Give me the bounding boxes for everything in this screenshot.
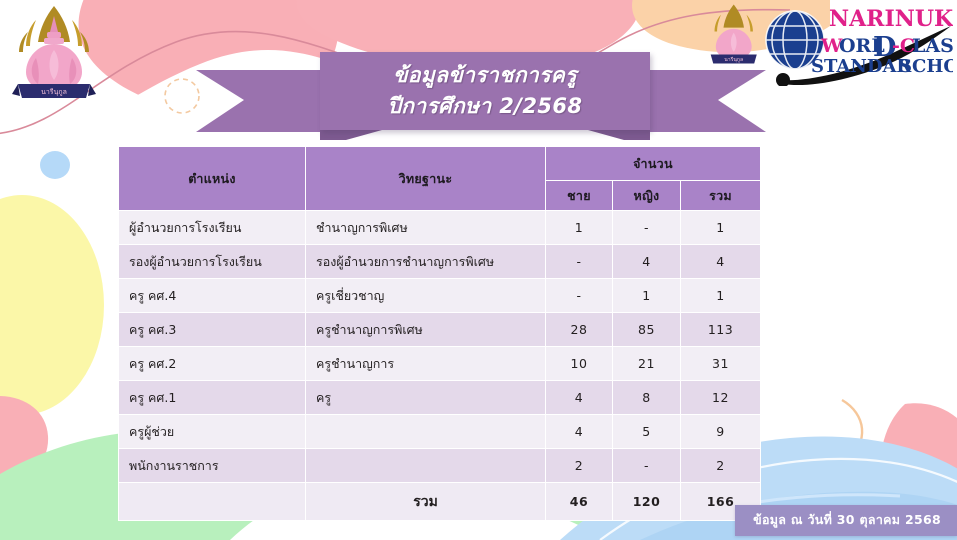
svg-text:STANDAR: STANDAR: [811, 56, 912, 77]
header-position: ตำแหน่ง: [119, 147, 306, 211]
table-row: ผู้อำนวยการโรงเรียน ชำนาญการพิเศษ 1 - 1: [119, 211, 761, 245]
cell-male: 1: [546, 211, 613, 245]
cell-male: 28: [546, 313, 613, 347]
cell-total: 12: [681, 381, 761, 415]
ribbon-fold-right: [588, 130, 650, 140]
header-academic-standing: วิทยฐานะ: [306, 147, 546, 211]
cell-male: -: [546, 245, 613, 279]
logo-crest-icon: นารีนุกูล: [711, 5, 757, 64]
cell-position: ครู คศ.2: [119, 347, 306, 381]
svg-text:LASS: LASS: [912, 35, 953, 57]
cell-position: พนักงานราชการ: [119, 449, 306, 483]
cell-standing: ชำนาญการพิเศษ: [306, 211, 546, 245]
royal-crest-emblem: นารีนุกูล: [6, 2, 102, 106]
table-row: ครู คศ.2 ครูชำนาญการ 10 21 31: [119, 347, 761, 381]
header-male: ชาย: [546, 181, 613, 211]
dashed-circle-right: [813, 458, 855, 500]
cell-female: 8: [613, 381, 681, 415]
cell-total: 9: [681, 415, 761, 449]
cell-total: 2: [681, 449, 761, 483]
table-row: ครู คศ.4 ครูเชี่ยวชาญ - 1 1: [119, 279, 761, 313]
header-total: รวม: [681, 181, 761, 211]
logo-title-text: NARINUKUN: [829, 6, 953, 32]
cell-total: 1: [681, 279, 761, 313]
table-body: ผู้อำนวยการโรงเรียน ชำนาญการพิเศษ 1 - 1 …: [119, 211, 761, 521]
table-row: ครู คศ.1 ครู 4 8 12: [119, 381, 761, 415]
table-row: พนักงานราชการ 2 - 2: [119, 449, 761, 483]
summary-label: รวม: [306, 483, 546, 521]
cell-position: ครู คศ.1: [119, 381, 306, 415]
cell-standing: [306, 449, 546, 483]
table-summary-row: รวม 46 120 166: [119, 483, 761, 521]
cell-male: -: [546, 279, 613, 313]
swoosh-dot: [776, 73, 790, 86]
title-plate: ข้อมูลข้าราชการครู ปีการศึกษา 2/2568: [320, 52, 650, 130]
cell-male: 10: [546, 347, 613, 381]
ribbon-fold-left: [320, 130, 382, 140]
cell-position: ผู้อำนวยการโรงเรียน: [119, 211, 306, 245]
summary-blank: [119, 483, 306, 521]
summary-male: 46: [546, 483, 613, 521]
cell-male: 4: [546, 381, 613, 415]
header-female: หญิง: [613, 181, 681, 211]
peach-curve-bottom: [842, 400, 862, 462]
cell-female: -: [613, 211, 681, 245]
cell-female: -: [613, 449, 681, 483]
cell-total: 1: [681, 211, 761, 245]
pink-blob-left-bottom: [0, 396, 48, 498]
cell-total: 31: [681, 347, 761, 381]
crest-banner-text: นารีนุกูล: [41, 88, 67, 96]
table: ตำแหน่ง วิทยฐานะ จำนวน ชาย หญิง รวม ผู้อ…: [118, 146, 761, 521]
cell-female: 85: [613, 313, 681, 347]
cell-standing: ครูชำนาญการพิเศษ: [306, 313, 546, 347]
cell-standing: ครู: [306, 381, 546, 415]
blue-dot: [40, 151, 70, 179]
ribbon-tail-left: [196, 70, 320, 132]
cell-female: 1: [613, 279, 681, 313]
dashed-circle-left: [165, 79, 199, 113]
cell-standing: ครูชำนาญการ: [306, 347, 546, 381]
cell-position: ครูผู้ช่วย: [119, 415, 306, 449]
cell-total: 113: [681, 313, 761, 347]
header-count: จำนวน: [546, 147, 761, 181]
cell-male: 4: [546, 415, 613, 449]
cell-total: 4: [681, 245, 761, 279]
svg-text:นารีนุกูล: นารีนุกูล: [724, 56, 743, 63]
header-row-top: ตำแหน่ง วิทยฐานะ จำนวน: [119, 147, 761, 181]
summary-female: 120: [613, 483, 681, 521]
crest-tier-2: [44, 38, 64, 44]
logo-standard-school-text: STANDAR SCHOOL: [811, 56, 953, 77]
cell-male: 2: [546, 449, 613, 483]
teacher-data-table: ตำแหน่ง วิทยฐานะ จำนวน ชาย หญิง รวม ผู้อ…: [118, 146, 760, 521]
yellow-blob-left: [0, 195, 104, 415]
cell-female: 5: [613, 415, 681, 449]
data-date-footer: ข้อมูล ณ วันที่ 30 ตุลาคม 2568: [735, 505, 957, 536]
cell-female: 21: [613, 347, 681, 381]
cell-standing: ครูเชี่ยวชาญ: [306, 279, 546, 313]
svg-text:SCHOOL: SCHOOL: [899, 56, 953, 77]
narinukun-world-class-logo: นารีนุกูล NARINUKUN W: [703, 0, 953, 86]
table-row: รองผู้อำนวยการโรงเรียน รองผู้อำนวยการชำน…: [119, 245, 761, 279]
table-row: ครูผู้ช่วย 4 5 9: [119, 415, 761, 449]
crest-tier-1: [47, 32, 61, 38]
title-banner: ข้อมูลข้าราชการครู ปีการศึกษา 2/2568: [196, 50, 766, 140]
cell-standing: รองผู้อำนวยการชำนาญการพิเศษ: [306, 245, 546, 279]
cell-position: ครู คศ.4: [119, 279, 306, 313]
cell-female: 4: [613, 245, 681, 279]
slide-canvas: นารีนุกูล นารีนุกูล: [0, 0, 957, 540]
table-head: ตำแหน่ง วิทยฐานะ จำนวน ชาย หญิง รวม: [119, 147, 761, 211]
title-line-1: ข้อมูลข้าราชการครู: [393, 60, 577, 91]
cell-position: รองผู้อำนวยการโรงเรียน: [119, 245, 306, 279]
table-row: ครู คศ.3 ครูชำนาญการพิเศษ 28 85 113: [119, 313, 761, 347]
title-line-2: ปีการศึกษา 2/2568: [388, 91, 583, 122]
cell-position: ครู คศ.3: [119, 313, 306, 347]
cell-standing: [306, 415, 546, 449]
